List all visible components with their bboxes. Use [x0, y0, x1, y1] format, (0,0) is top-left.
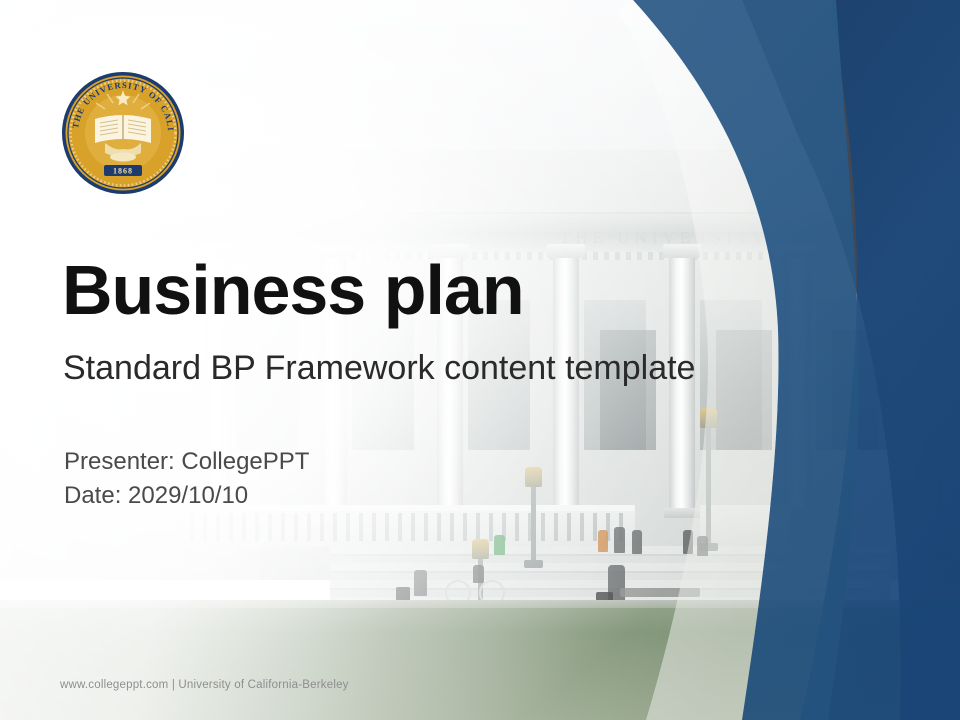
- uc-berkeley-seal-icon: THE UNIVERSITY OF CALIFORNIA BERKELEY: [61, 71, 185, 195]
- date-line: Date: 2029/10/10: [64, 479, 309, 513]
- window-dark: [832, 330, 888, 450]
- footer-credit: www.collegeppt.com | University of Calif…: [60, 679, 349, 691]
- lamp-post: [531, 484, 536, 562]
- bench: [620, 588, 700, 597]
- baluster-row: [190, 513, 630, 541]
- person-figure: [683, 530, 693, 554]
- presentation-title-slide: THE UNIVERSITY LIBRARY: [0, 0, 960, 720]
- window-dark: [716, 330, 772, 450]
- column: [785, 258, 811, 508]
- person-figure: [494, 535, 505, 555]
- column: [901, 258, 927, 508]
- seal-year: 1868: [113, 166, 133, 175]
- presenter-line: Presenter: CollegePPT: [64, 445, 309, 479]
- page-subtitle: Standard BP Framework content template: [63, 350, 695, 387]
- page-title: Business plan: [62, 255, 524, 325]
- lamp-post: [938, 472, 943, 552]
- person-figure: [414, 570, 427, 596]
- lawn: [0, 608, 960, 720]
- person-figure: [632, 530, 642, 554]
- slide-meta-block: Presenter: CollegePPT Date: 2029/10/10: [64, 445, 309, 513]
- person-figure: [598, 530, 608, 552]
- person-figure: [614, 527, 625, 553]
- lamp-post: [706, 425, 711, 545]
- person-figure: [697, 536, 708, 556]
- frieze-inscription: THE UNIVERSITY LIBRARY: [560, 228, 887, 248]
- window-dark: [600, 330, 656, 450]
